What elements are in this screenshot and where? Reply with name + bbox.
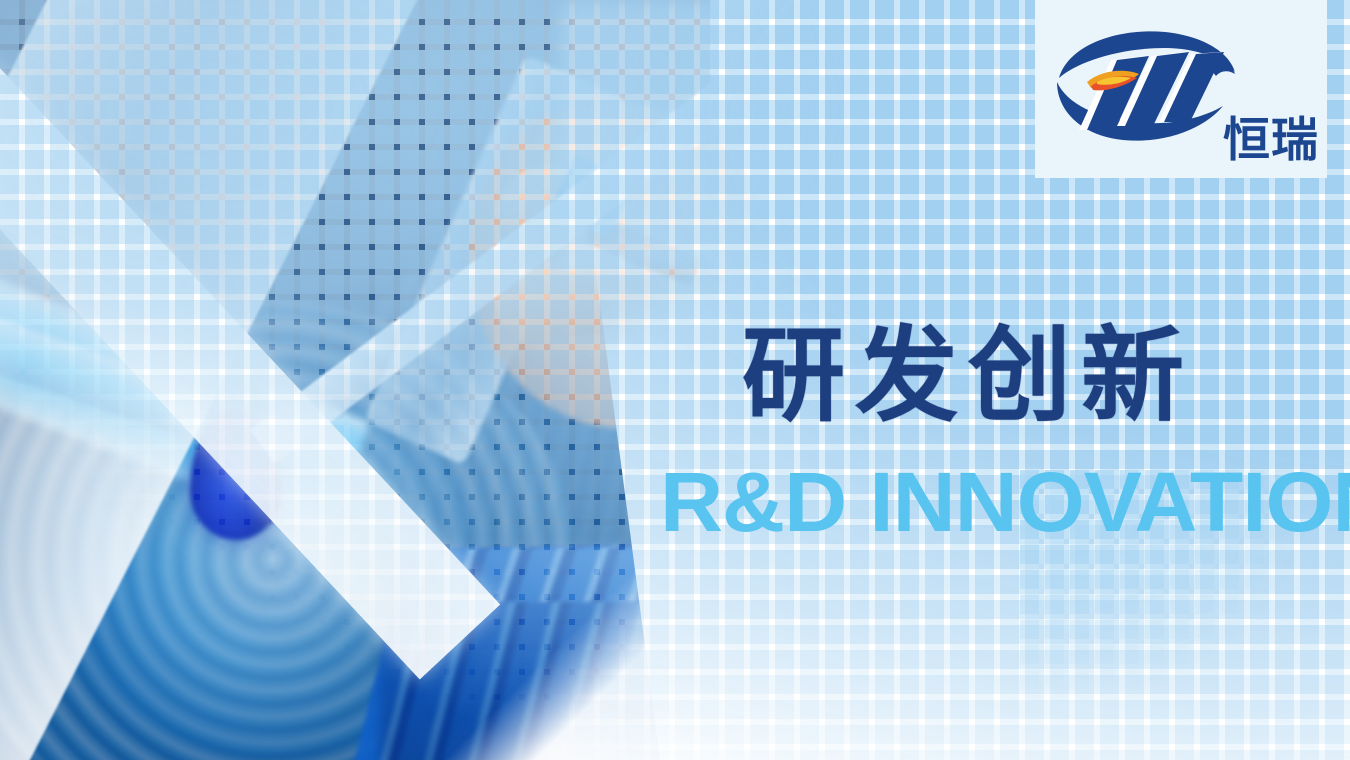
hengrui-logo-mark-icon [1053,26,1243,146]
headline-chinese: 研发创新 [742,322,1194,430]
rnd-innovation-banner: 研发创新 R&D INNOVATION 恒瑞 [0,0,1350,760]
logo-plate[interactable]: 恒瑞 [1035,0,1327,178]
hengrui-logo-text: 恒瑞 [1223,117,1319,164]
hengrui-logo: 恒瑞 [1035,0,1327,178]
headline-english: R&D INNOVATION [660,460,1350,544]
